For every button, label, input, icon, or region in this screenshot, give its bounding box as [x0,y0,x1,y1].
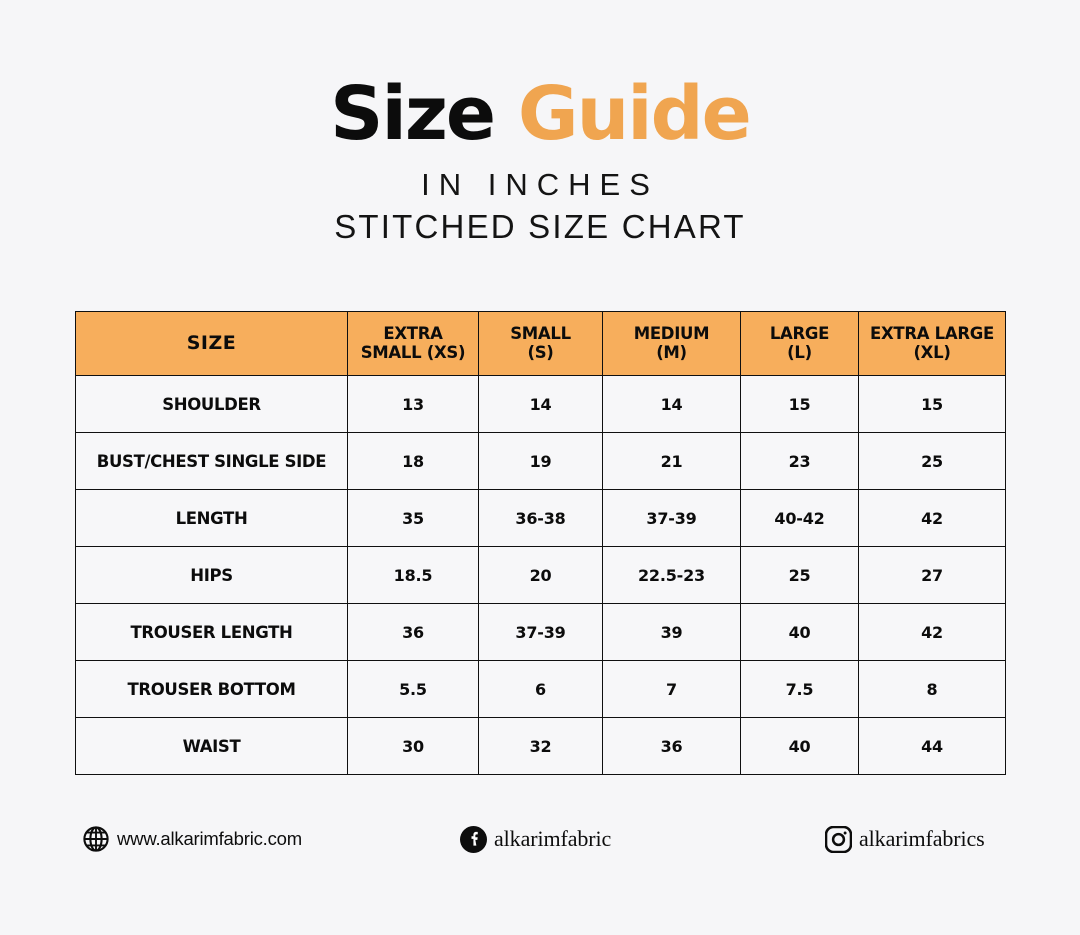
globe-icon [82,825,110,853]
cell-value: 22.5-23 [603,547,741,604]
page-title: Size Guide [0,78,1080,151]
cell-value: 44 [859,718,1006,775]
header-cell-m: MEDIUM (M) [603,312,741,376]
cell-value: 37-39 [603,490,741,547]
cell-value: 21 [603,433,741,490]
cell-value: 7.5 [741,661,859,718]
cell-value: 20 [479,547,603,604]
cell-value: 14 [603,376,741,433]
cell-value: 5.5 [348,661,479,718]
cell-value: 15 [741,376,859,433]
size-chart-table-wrap: SIZE EXTRA SMALL (XS) SMALL (S) MEDIUM (… [75,311,1005,775]
row-label: TROUSER LENGTH [76,604,348,661]
row-label: LENGTH [76,490,348,547]
cell-value: 36 [348,604,479,661]
table-row: SHOULDER 13 14 14 15 15 [76,376,1006,433]
cell-value: 36-38 [479,490,603,547]
table-row: LENGTH 35 36-38 37-39 40-42 42 [76,490,1006,547]
cell-value: 40 [741,604,859,661]
facebook-label: alkarimfabric [494,826,611,852]
row-label: SHOULDER [76,376,348,433]
header-cell-size: SIZE [76,312,348,376]
title-word-dark: Size [330,71,494,157]
footer: www.alkarimfabric.com alkarimfabric alka… [75,818,1005,868]
website-label: www.alkarimfabric.com [117,828,302,850]
table-row: TROUSER BOTTOM 5.5 6 7 7.5 8 [76,661,1006,718]
cell-value: 19 [479,433,603,490]
footer-instagram[interactable]: alkarimfabrics [825,818,985,860]
cell-value: 40 [741,718,859,775]
size-chart-table: SIZE EXTRA SMALL (XS) SMALL (S) MEDIUM (… [75,311,1006,775]
row-label: HIPS [76,547,348,604]
table-row: TROUSER LENGTH 36 37-39 39 40 42 [76,604,1006,661]
subtitle-chart-type: STITCHED SIZE CHART [0,208,1080,246]
cell-value: 37-39 [479,604,603,661]
title-block: Size Guide IN INCHES STITCHED SIZE CHART [0,0,1080,246]
cell-value: 35 [348,490,479,547]
cell-value: 23 [741,433,859,490]
table-body: SHOULDER 13 14 14 15 15 BUST/CHEST SINGL… [76,376,1006,775]
table-row: BUST/CHEST SINGLE SIDE 18 19 21 23 25 [76,433,1006,490]
header-cell-s: SMALL (S) [479,312,603,376]
cell-value: 18.5 [348,547,479,604]
cell-value: 18 [348,433,479,490]
footer-facebook[interactable]: alkarimfabric [460,818,611,860]
title-word-accent: Guide [494,71,750,157]
table-row: WAIST 30 32 36 40 44 [76,718,1006,775]
cell-value: 25 [741,547,859,604]
row-label: TROUSER BOTTOM [76,661,348,718]
cell-value: 15 [859,376,1006,433]
cell-value: 30 [348,718,479,775]
cell-value: 32 [479,718,603,775]
cell-value: 6 [479,661,603,718]
cell-value: 13 [348,376,479,433]
header-cell-xs: EXTRA SMALL (XS) [348,312,479,376]
footer-website[interactable]: www.alkarimfabric.com [82,818,302,860]
row-label: WAIST [76,718,348,775]
header-cell-l: LARGE (L) [741,312,859,376]
cell-value: 8 [859,661,1006,718]
cell-value: 27 [859,547,1006,604]
table-row: HIPS 18.5 20 22.5-23 25 27 [76,547,1006,604]
cell-value: 40-42 [741,490,859,547]
instagram-icon [825,826,852,853]
facebook-icon [460,826,487,853]
cell-value: 14 [479,376,603,433]
instagram-label: alkarimfabrics [859,826,985,852]
table-header: SIZE EXTRA SMALL (XS) SMALL (S) MEDIUM (… [76,312,1006,376]
row-label: BUST/CHEST SINGLE SIDE [76,433,348,490]
cell-value: 42 [859,490,1006,547]
cell-value: 36 [603,718,741,775]
size-guide-page: Size Guide IN INCHES STITCHED SIZE CHART… [0,0,1080,935]
header-cell-xl: EXTRA LARGE (XL) [859,312,1006,376]
subtitle-units: IN INCHES [0,167,1080,203]
table-header-row: SIZE EXTRA SMALL (XS) SMALL (S) MEDIUM (… [76,312,1006,376]
cell-value: 39 [603,604,741,661]
cell-value: 25 [859,433,1006,490]
cell-value: 42 [859,604,1006,661]
cell-value: 7 [603,661,741,718]
